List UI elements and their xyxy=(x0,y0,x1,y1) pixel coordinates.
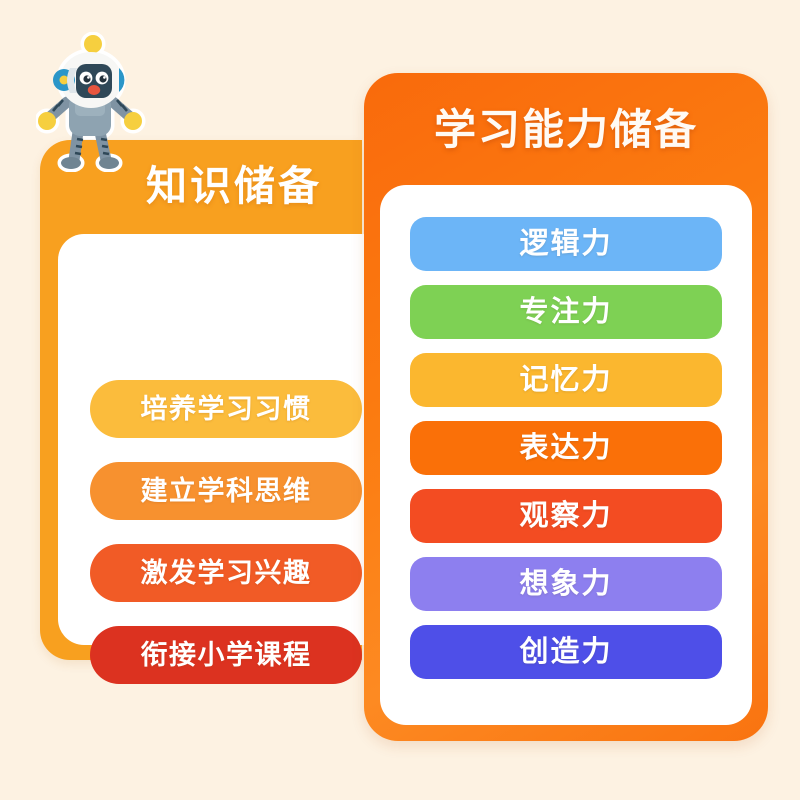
knowledge-reserve-list: 培养学习习惯 建立学科思维 激发学习兴趣 衔接小学课程 xyxy=(90,380,362,708)
learning-ability-title: 学习能力储备 xyxy=(364,99,768,161)
list-item[interactable]: 衔接小学课程 xyxy=(90,626,362,684)
list-item[interactable]: 培养学习习惯 xyxy=(90,380,362,438)
learning-ability-list: 逻辑力 专注力 记忆力 表达力 观察力 想象力 创造力 xyxy=(410,217,722,679)
learning-ability-card: 学习能力储备 逻辑力 专注力 记忆力 表达力 观察力 想象力 创造力 xyxy=(364,73,768,741)
robot-pupil-right xyxy=(99,75,106,82)
robot-pupil-left xyxy=(83,75,90,82)
robot-icon xyxy=(36,32,148,172)
list-item[interactable]: 观察力 xyxy=(410,489,722,543)
list-item[interactable]: 专注力 xyxy=(410,285,722,339)
list-item[interactable]: 想象力 xyxy=(410,557,722,611)
list-item[interactable]: 逻辑力 xyxy=(410,217,722,271)
learning-ability-panel: 逻辑力 专注力 记忆力 表达力 观察力 想象力 创造力 xyxy=(380,185,752,725)
list-item[interactable]: 建立学科思维 xyxy=(90,462,362,520)
robot-hand-right-icon xyxy=(124,112,142,130)
robot-antenna-bulb-icon xyxy=(84,35,102,53)
list-item[interactable]: 创造力 xyxy=(410,625,722,679)
robot-mouth-icon xyxy=(88,85,100,95)
poster-canvas: 培养学习习惯 建立学科思维 激发学习兴趣 衔接小学课程 知识储备 学习能力储备 … xyxy=(0,0,800,800)
list-item[interactable]: 激发学习兴趣 xyxy=(90,544,362,602)
robot-hand-left-icon xyxy=(38,112,56,130)
list-item[interactable]: 记忆力 xyxy=(410,353,722,407)
robot-mascot-icon xyxy=(36,32,148,172)
robot-pupil-left-glint xyxy=(87,76,90,79)
robot-pupil-right-glint xyxy=(103,76,106,79)
knowledge-reserve-panel: 培养学习习惯 建立学科思维 激发学习兴趣 衔接小学课程 xyxy=(58,234,380,645)
list-item[interactable]: 表达力 xyxy=(410,421,722,475)
knowledge-reserve-card: 培养学习习惯 建立学科思维 激发学习兴趣 衔接小学课程 知识储备 xyxy=(40,140,362,660)
